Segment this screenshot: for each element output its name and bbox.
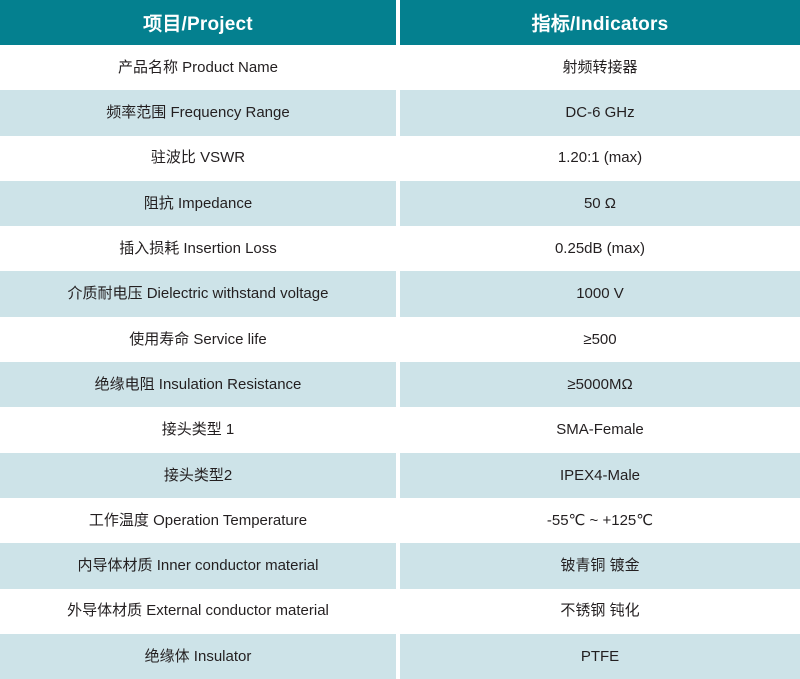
cell-indicator: PTFE bbox=[400, 634, 800, 679]
cell-indicator: DC-6 GHz bbox=[400, 90, 800, 135]
cell-project-text: 接头类型2 bbox=[0, 466, 396, 486]
cell-project-text: 绝缘电阻 Insulation Resistance bbox=[0, 375, 396, 395]
cell-indicator-text: 铍青铜 镀金 bbox=[400, 556, 800, 576]
table-header-row: 项目/Project 指标/Indicators bbox=[0, 0, 800, 45]
cell-indicator: 不锈钢 钝化 bbox=[400, 589, 800, 634]
table-row: 绝缘体 InsulatorPTFE bbox=[0, 634, 800, 679]
cell-indicator-text: 1.20:1 (max) bbox=[400, 148, 800, 168]
cell-project: 介质耐电压 Dielectric withstand voltage bbox=[0, 271, 400, 316]
cell-indicator-text: 射频转接器 bbox=[400, 58, 800, 78]
column-header-project-label: 项目/Project bbox=[0, 9, 396, 36]
cell-indicator: 0.25dB (max) bbox=[400, 226, 800, 271]
cell-indicator: 射频转接器 bbox=[400, 45, 800, 90]
cell-project: 阻抗 Impedance bbox=[0, 181, 400, 226]
cell-indicator: IPEX4-Male bbox=[400, 453, 800, 498]
cell-indicator-text: SMA-Female bbox=[400, 420, 800, 440]
cell-indicator-text: 不锈钢 钝化 bbox=[400, 601, 800, 621]
cell-project: 外导体材质 External conductor material bbox=[0, 589, 400, 634]
cell-indicator: SMA-Female bbox=[400, 407, 800, 452]
table-row: 绝缘电阻 Insulation Resistance≥5000MΩ bbox=[0, 362, 800, 407]
table-row: 插入损耗 Insertion Loss0.25dB (max) bbox=[0, 226, 800, 271]
cell-project-text: 绝缘体 Insulator bbox=[0, 647, 396, 667]
column-header-indicator-label: 指标/Indicators bbox=[400, 9, 800, 36]
cell-project-text: 内导体材质 Inner conductor material bbox=[0, 556, 396, 576]
table-header: 项目/Project 指标/Indicators bbox=[0, 0, 800, 45]
cell-project-text: 接头类型 1 bbox=[0, 420, 396, 440]
cell-indicator-text: 0.25dB (max) bbox=[400, 239, 800, 259]
table-row: 接头类型2IPEX4-Male bbox=[0, 453, 800, 498]
cell-project: 驻波比 VSWR bbox=[0, 136, 400, 181]
table-row: 外导体材质 External conductor material不锈钢 钝化 bbox=[0, 589, 800, 634]
cell-project-text: 阻抗 Impedance bbox=[0, 194, 396, 214]
cell-project-text: 产品名称 Product Name bbox=[0, 58, 396, 78]
cell-project-text: 外导体材质 External conductor material bbox=[0, 601, 396, 621]
cell-indicator: -55℃ ~ +125℃ bbox=[400, 498, 800, 543]
cell-indicator: 50 Ω bbox=[400, 181, 800, 226]
cell-indicator-text: ≥5000MΩ bbox=[400, 375, 800, 395]
cell-indicator-text: PTFE bbox=[400, 647, 800, 667]
cell-project-text: 使用寿命 Service life bbox=[0, 330, 396, 350]
cell-indicator: 1.20:1 (max) bbox=[400, 136, 800, 181]
table-row: 频率范围 Frequency RangeDC-6 GHz bbox=[0, 90, 800, 135]
cell-indicator: 1000 V bbox=[400, 271, 800, 316]
cell-indicator-text: -55℃ ~ +125℃ bbox=[400, 511, 800, 531]
cell-project: 产品名称 Product Name bbox=[0, 45, 400, 90]
cell-indicator-text: DC-6 GHz bbox=[400, 103, 800, 123]
cell-project: 工作温度 Operation Temperature bbox=[0, 498, 400, 543]
table-row: 内导体材质 Inner conductor material铍青铜 镀金 bbox=[0, 543, 800, 588]
cell-project: 插入损耗 Insertion Loss bbox=[0, 226, 400, 271]
cell-indicator: ≥5000MΩ bbox=[400, 362, 800, 407]
cell-indicator-text: ≥500 bbox=[400, 330, 800, 350]
cell-indicator-text: 50 Ω bbox=[400, 194, 800, 214]
table-row: 驻波比 VSWR1.20:1 (max) bbox=[0, 136, 800, 181]
cell-project-text: 插入损耗 Insertion Loss bbox=[0, 239, 396, 259]
cell-project: 使用寿命 Service life bbox=[0, 317, 400, 362]
column-header-project: 项目/Project bbox=[0, 0, 400, 45]
cell-indicator: ≥500 bbox=[400, 317, 800, 362]
cell-project-text: 工作温度 Operation Temperature bbox=[0, 511, 396, 531]
table-row: 阻抗 Impedance50 Ω bbox=[0, 181, 800, 226]
cell-project-text: 介质耐电压 Dielectric withstand voltage bbox=[0, 284, 396, 304]
cell-project: 接头类型2 bbox=[0, 453, 400, 498]
cell-project: 绝缘电阻 Insulation Resistance bbox=[0, 362, 400, 407]
table-row: 介质耐电压 Dielectric withstand voltage1000 V bbox=[0, 271, 800, 316]
specification-table: 项目/Project 指标/Indicators 产品名称 Product Na… bbox=[0, 0, 800, 679]
table-row: 使用寿命 Service life≥500 bbox=[0, 317, 800, 362]
cell-project: 内导体材质 Inner conductor material bbox=[0, 543, 400, 588]
table-row: 工作温度 Operation Temperature-55℃ ~ +125℃ bbox=[0, 498, 800, 543]
table-body: 产品名称 Product Name射频转接器频率范围 Frequency Ran… bbox=[0, 45, 800, 679]
column-header-indicator: 指标/Indicators bbox=[400, 0, 800, 45]
table-row: 产品名称 Product Name射频转接器 bbox=[0, 45, 800, 90]
table-row: 接头类型 1SMA-Female bbox=[0, 407, 800, 452]
cell-indicator-text: IPEX4-Male bbox=[400, 466, 800, 486]
cell-indicator: 铍青铜 镀金 bbox=[400, 543, 800, 588]
cell-indicator-text: 1000 V bbox=[400, 284, 800, 304]
cell-project-text: 驻波比 VSWR bbox=[0, 148, 396, 168]
cell-project-text: 频率范围 Frequency Range bbox=[0, 103, 396, 123]
cell-project: 接头类型 1 bbox=[0, 407, 400, 452]
cell-project: 绝缘体 Insulator bbox=[0, 634, 400, 679]
cell-project: 频率范围 Frequency Range bbox=[0, 90, 400, 135]
